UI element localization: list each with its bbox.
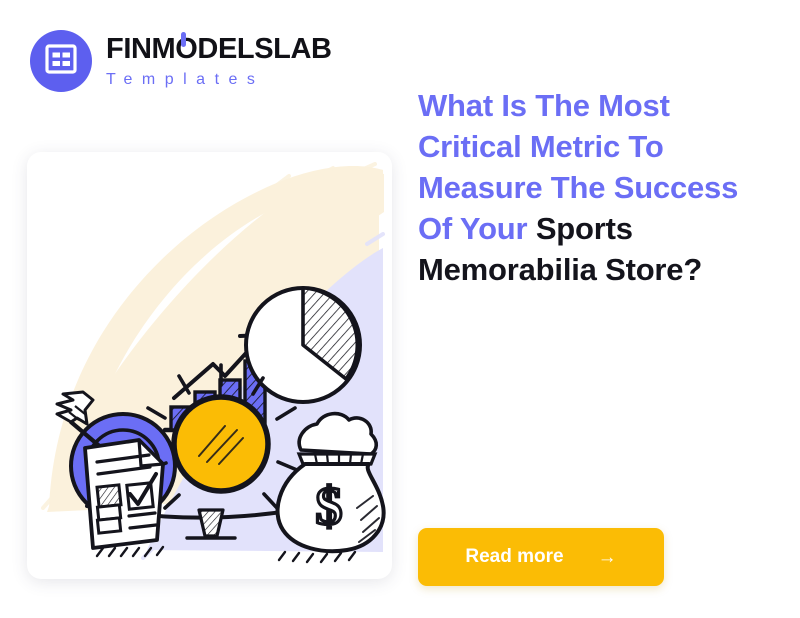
svg-text:$: $ (316, 476, 343, 536)
grid-table-icon (45, 44, 77, 79)
logo-power-dot-icon (181, 32, 186, 47)
pie-chart-icon (246, 288, 360, 402)
logo-name: FINMODELSLAB (106, 35, 332, 64)
page-title: What Is The Most Critical Metric To Meas… (418, 86, 768, 291)
logo-mark (30, 30, 92, 92)
read-more-button[interactable]: Read more → (418, 528, 664, 586)
illustration-card: $ (27, 152, 392, 579)
logo-wordmark: FINMODELSLAB Templates (106, 35, 332, 88)
read-more-label: Read more (465, 546, 563, 568)
logo-name-text: FINMODELSLAB (106, 33, 332, 65)
logo-subtitle: Templates (106, 72, 332, 88)
brand-logo[interactable]: FINMODELSLAB Templates (30, 30, 332, 92)
checklist-document-icon (85, 440, 163, 556)
business-metrics-illustration: $ (27, 152, 392, 579)
arrow-right-icon: → (598, 548, 617, 567)
